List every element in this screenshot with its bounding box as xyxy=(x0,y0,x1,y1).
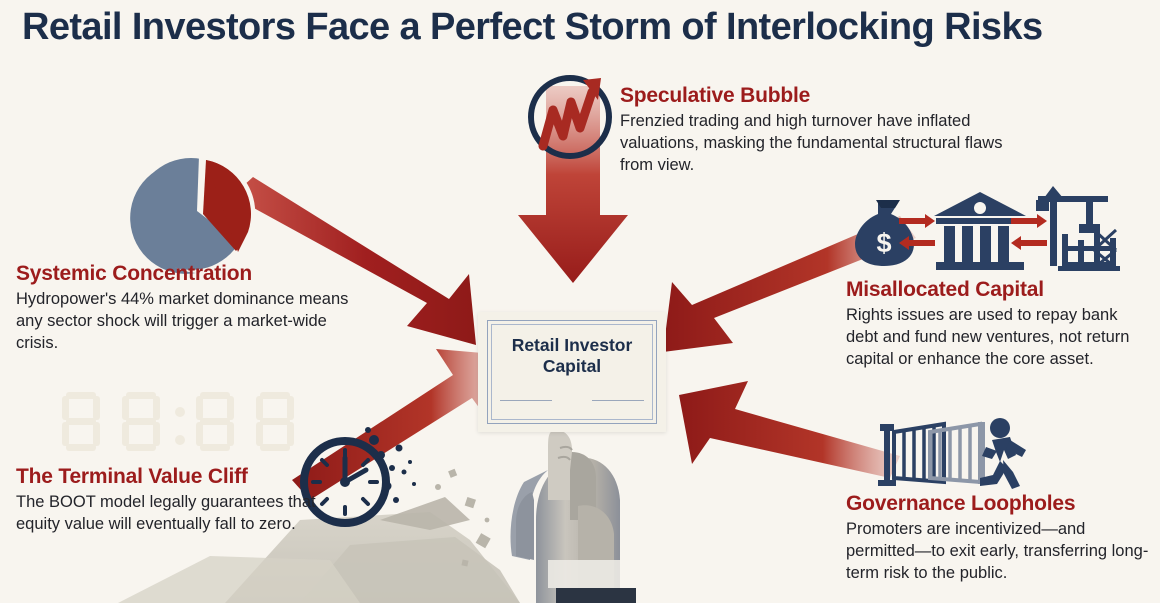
risk-body-systemic-concentration: Hydropower's 44% market dominance means … xyxy=(16,289,356,354)
risk-heading-systemic-concentration: Systemic Concentration xyxy=(16,262,356,285)
exploded-pie-chart-icon xyxy=(130,156,255,274)
infographic-canvas: Retail Investors Face a Perfect Storm of… xyxy=(0,0,1160,603)
certificate-signature-line-right xyxy=(592,400,644,401)
risk-body-speculative-bubble: Frenzied trading and high turnover have … xyxy=(620,111,1020,176)
certificate-label-line1: Retail Investor xyxy=(478,335,666,356)
risk-body-governance-loopholes: Promoters are incentivized—and permitted… xyxy=(846,519,1156,584)
risk-body-misallocated-capital: Rights issues are used to repay bank deb… xyxy=(846,305,1151,370)
certificate-signature-line-left xyxy=(500,400,552,401)
digital-clock-watermark xyxy=(62,392,294,451)
risk-governance-loopholes: Governance Loopholes Promoters are incen… xyxy=(846,492,1156,584)
arrow-governance-loopholes xyxy=(679,381,900,478)
svg-text:$: $ xyxy=(876,228,891,258)
risk-speculative-bubble: Speculative Bubble Frenzied trading and … xyxy=(620,84,1020,176)
risk-heading-misallocated-capital: Misallocated Capital xyxy=(846,278,1151,301)
risk-heading-terminal-value-cliff: The Terminal Value Cliff xyxy=(16,465,326,488)
risk-terminal-value-cliff: The Terminal Value Cliff The BOOT model … xyxy=(16,465,326,536)
risk-heading-speculative-bubble: Speculative Bubble xyxy=(620,84,1020,107)
risk-systemic-concentration: Systemic Concentration Hydropower's 44% … xyxy=(16,262,356,354)
risk-heading-governance-loopholes: Governance Loopholes xyxy=(846,492,1156,515)
money-bag-bank-crane-icon: $ xyxy=(855,186,1120,271)
risk-misallocated-capital: Misallocated Capital Rights issues are u… xyxy=(846,278,1151,370)
running-person-icon xyxy=(980,418,1026,489)
certificate-label: Retail Investor Capital xyxy=(478,335,666,376)
risk-body-terminal-value-cliff: The BOOT model legally guarantees that e… xyxy=(16,492,326,536)
open-gate-running-person-icon xyxy=(878,418,1026,489)
certificate-label-line2: Capital xyxy=(478,356,666,377)
retail-investor-capital-certificate: Retail Investor Capital xyxy=(478,312,666,432)
hand-holding-certificate-icon xyxy=(511,430,637,603)
